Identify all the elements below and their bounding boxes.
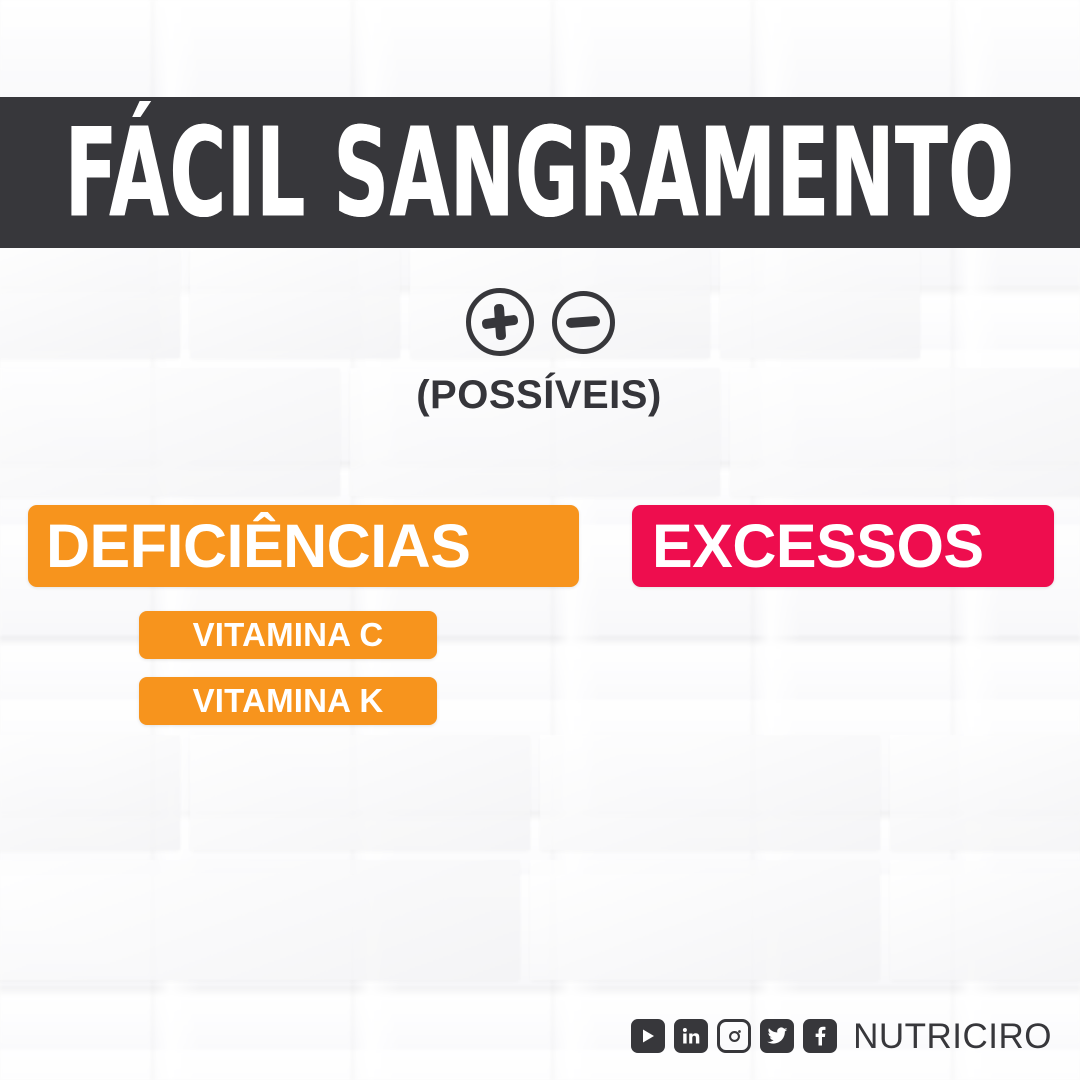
list-item: VITAMINA K	[139, 677, 437, 725]
sign-row	[0, 288, 1080, 356]
background-tile	[0, 860, 520, 980]
list-item: VITAMINA C	[139, 611, 437, 659]
circled-plus-icon	[466, 288, 534, 356]
background-tile	[0, 735, 180, 850]
minus-glyph	[566, 316, 601, 328]
youtube-icon[interactable]	[631, 1019, 665, 1053]
twitter-icon[interactable]	[760, 1019, 794, 1053]
plus-glyph	[480, 302, 520, 342]
linkedin-icon[interactable]	[674, 1019, 708, 1053]
background-tile	[530, 860, 880, 980]
category-badge-excessos: EXCESSOS	[632, 505, 1054, 587]
vitamin-chip-label: VITAMINA K	[193, 682, 384, 720]
title-banner: FÁCIL SANGRAMENTO	[0, 97, 1080, 248]
brand-name: NUTRICIRO	[853, 1019, 1052, 1054]
instagram-icon[interactable]	[717, 1019, 751, 1053]
background-tile	[890, 860, 1080, 980]
background-tile	[890, 735, 1080, 850]
category-badge-deficiencias-label: DEFICIÊNCIAS	[46, 516, 470, 577]
circled-minus-icon	[552, 291, 615, 354]
facebook-icon[interactable]	[803, 1019, 837, 1053]
possible-caption: (POSSÍVEIS)	[0, 373, 1080, 418]
page-title: FÁCIL SANGRAMENTO	[65, 111, 1015, 234]
category-badge-excessos-label: EXCESSOS	[652, 516, 984, 577]
vitamin-chip-label: VITAMINA C	[193, 616, 384, 654]
background-tile	[540, 735, 880, 850]
poster-canvas: FÁCIL SANGRAMENTO (POSSÍVEIS) DEFICIÊNCI…	[0, 0, 1080, 1080]
footer-bar: NUTRICIRO	[0, 1014, 1080, 1058]
possible-caption-text: (POSSÍVEIS)	[416, 373, 662, 418]
background-tile	[190, 735, 530, 850]
category-badge-deficiencias: DEFICIÊNCIAS	[28, 505, 579, 587]
